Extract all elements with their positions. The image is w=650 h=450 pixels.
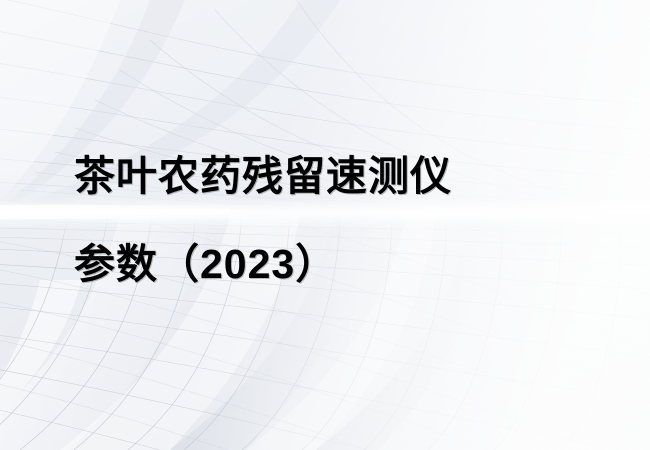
banner-title: 茶叶农药残留速测仪 参数（2023） [74,132,594,308]
title-banner: 茶叶农药残留速测仪 参数（2023） [0,0,650,450]
title-line-2: 参数（2023） [74,220,594,308]
title-line-1: 茶叶农药残留速测仪 [74,132,594,220]
